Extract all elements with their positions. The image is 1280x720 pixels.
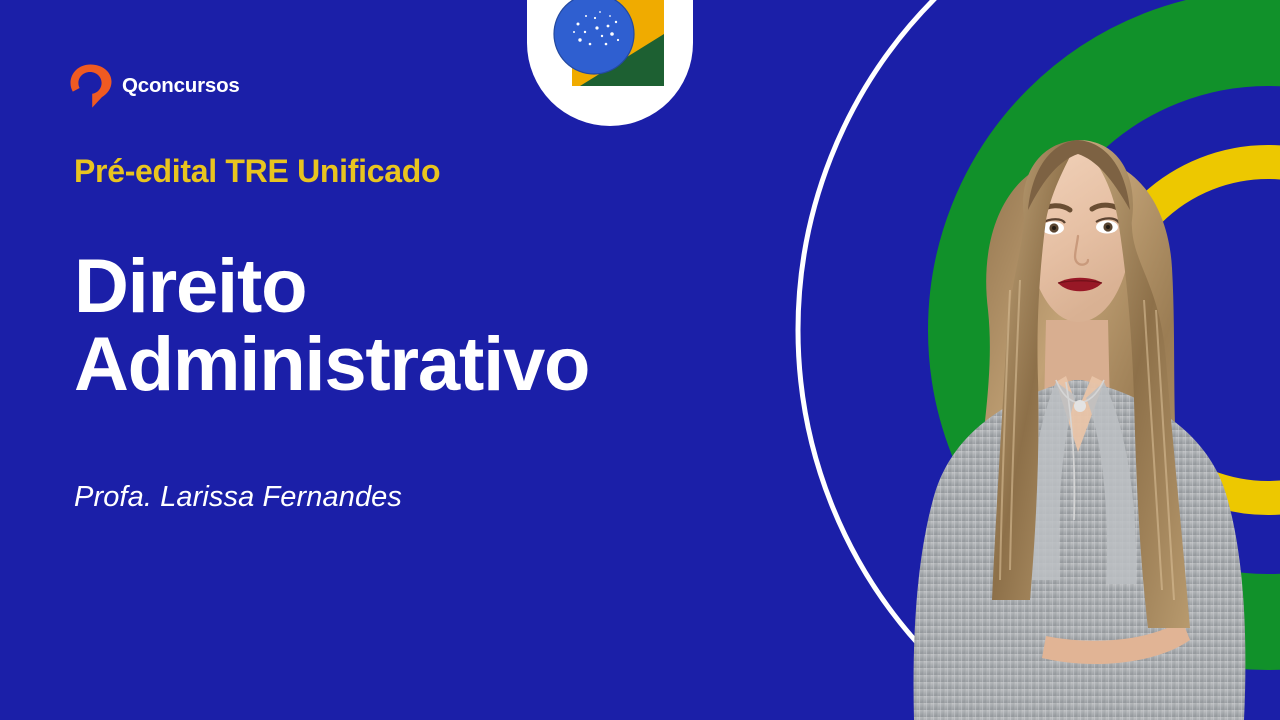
brazil-gov-emblem-plate — [527, 0, 693, 126]
brand-wordmark: Qconcursos — [122, 74, 240, 98]
brazil-government-emblem-icon — [550, 0, 670, 102]
presenter-name: Profa. Larissa Fernandes — [74, 481, 774, 514]
presentation-slide: Qconcursos Pré-edital TRE Unificado Dire… — [0, 0, 1280, 720]
page-title-line-2: Administrativo — [74, 326, 774, 404]
qconcursos-logo[interactable]: Qconcursos — [68, 62, 240, 110]
page-title: Direito Administrativo — [74, 248, 774, 403]
slide-copy: Pré-edital TRE Unificado Direito Adminis… — [74, 152, 774, 514]
necklace-pendant — [1074, 400, 1086, 412]
page-title-line-1: Direito — [74, 248, 774, 326]
course-eyebrow: Pré-edital TRE Unificado — [74, 152, 774, 190]
instructor-photo — [860, 80, 1280, 720]
q-speech-bubble-icon — [68, 62, 112, 110]
